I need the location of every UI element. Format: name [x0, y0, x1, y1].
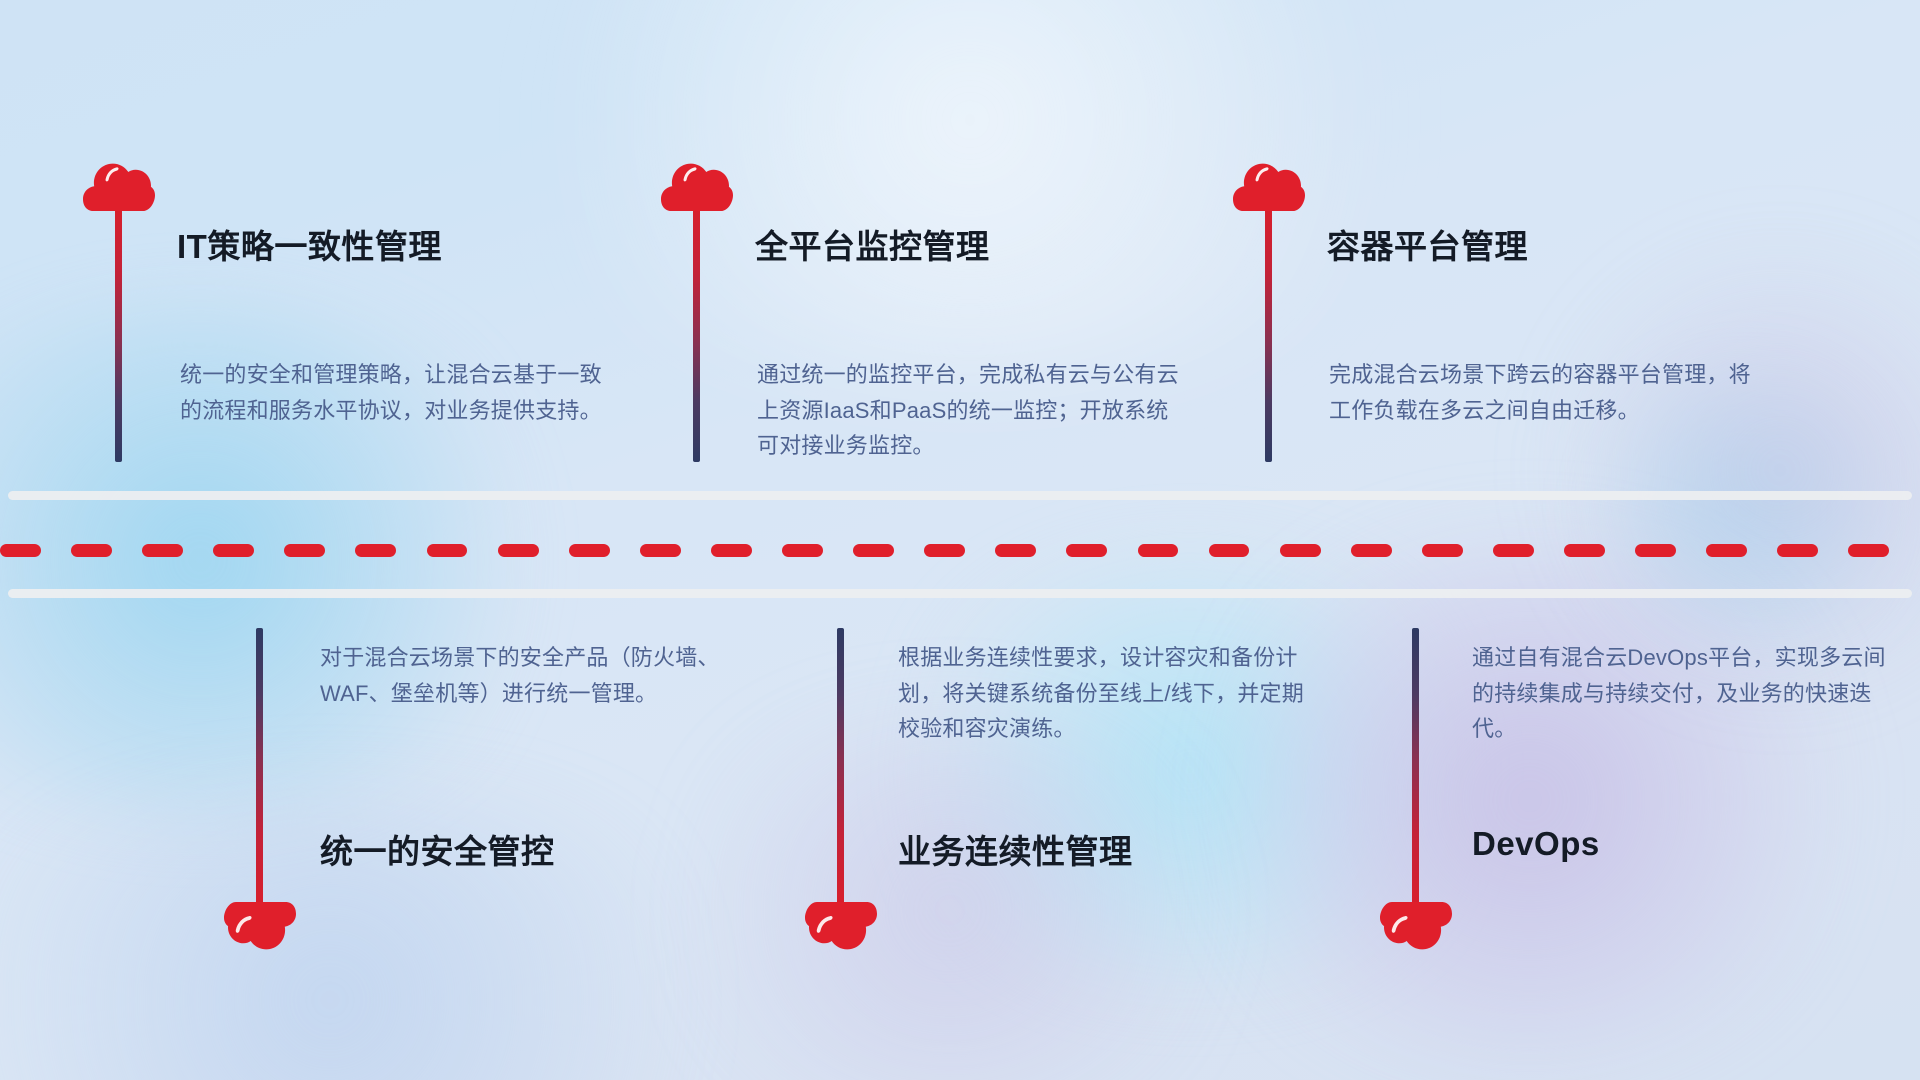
road-dash — [1706, 544, 1747, 557]
cloud-pin-icon — [805, 900, 877, 958]
road-dash — [1209, 544, 1250, 557]
road-dash — [71, 544, 112, 557]
column-title: IT策略一致性管理 — [177, 220, 442, 268]
road-dash — [284, 544, 325, 557]
column-title: 统一的安全管控 — [320, 825, 555, 873]
cloud-pin-icon — [1380, 900, 1452, 958]
column-title: DevOps — [1472, 825, 1600, 863]
pin-bar — [1265, 207, 1272, 462]
column-body-text: 通过自有混合云DevOps平台，实现多云间的持续集成与持续交付，及业务的快速迭代… — [1472, 640, 1887, 747]
road-dash — [782, 544, 823, 557]
road-dash — [1280, 544, 1321, 557]
road-dash — [995, 544, 1036, 557]
road-dash — [1493, 544, 1534, 557]
road-dash — [213, 544, 254, 557]
column-title: 容器平台管理 — [1327, 220, 1528, 268]
road-dash — [1351, 544, 1392, 557]
road-dash — [1564, 544, 1605, 557]
column-body-text: 对于混合云场景下的安全产品（防火墙、WAF、堡垒机等）进行统一管理。 — [320, 640, 735, 711]
road-dash — [711, 544, 752, 557]
cloud-pin-icon — [1233, 155, 1305, 213]
pin-bar — [1412, 628, 1419, 905]
road-dash — [640, 544, 681, 557]
background-glow-white-top — [420, 0, 1520, 380]
column-title: 业务连续性管理 — [898, 825, 1133, 873]
cloud-pin-icon — [224, 900, 296, 958]
road-dash — [1422, 544, 1463, 557]
road-dash — [142, 544, 183, 557]
background-glow-lavender-c — [640, 720, 1260, 1080]
pin-bar — [115, 207, 122, 462]
road-dash — [569, 544, 610, 557]
road-dash — [1777, 544, 1818, 557]
pin-bar — [693, 207, 700, 462]
column-body-text: 完成混合云场景下跨云的容器平台管理，将工作负载在多云之间自由迁移。 — [1329, 357, 1759, 428]
road-dash — [1848, 544, 1889, 557]
road-dash — [853, 544, 894, 557]
road-dash — [1138, 544, 1179, 557]
column-title: 全平台监控管理 — [755, 220, 990, 268]
road-dash — [1066, 544, 1107, 557]
road-dash — [924, 544, 965, 557]
background-glow-lavender-b — [1540, 240, 1920, 700]
column-body-text: 通过统一的监控平台，完成私有云与公有云上资源IaaS和PaaS的统一监控；开放系… — [757, 357, 1187, 464]
cloud-pin-icon — [83, 155, 155, 213]
pin-bar — [837, 628, 844, 905]
pin-bar — [256, 628, 263, 905]
road-edge-line-bottom — [8, 589, 1912, 598]
road-dash — [427, 544, 468, 557]
road-dash — [355, 544, 396, 557]
road-edge-line-top — [8, 491, 1912, 500]
column-body-text: 统一的安全和管理策略，让混合云基于一致的流程和服务水平协议，对业务提供支持。 — [180, 357, 610, 428]
road-dash — [1635, 544, 1676, 557]
road-center-dashed-line — [0, 544, 1920, 557]
infographic-canvas: IT策略一致性管理 统一的安全和管理策略，让混合云基于一致的流程和服务水平协议，… — [0, 0, 1920, 1080]
road-dash — [498, 544, 539, 557]
road-dash — [0, 544, 41, 557]
column-body-text: 根据业务连续性要求，设计容灾和备份计划，将关键系统备份至线上/线下，并定期校验和… — [898, 640, 1313, 747]
background-glow-lavender-a — [1180, 540, 1880, 1060]
cloud-pin-icon — [661, 155, 733, 213]
